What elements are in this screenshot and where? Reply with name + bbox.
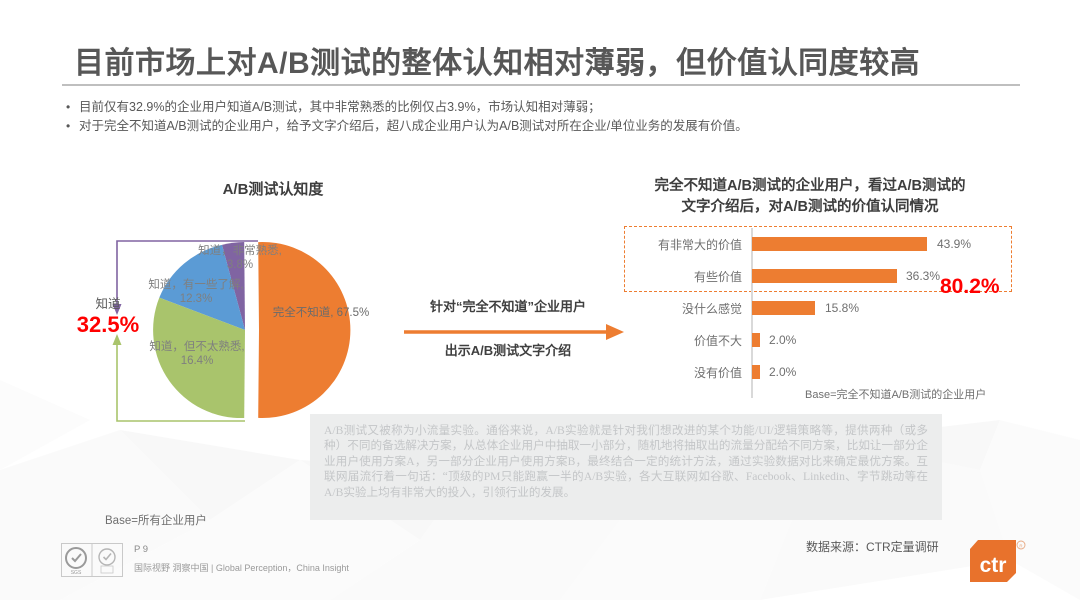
bar-base-note: Base=完全不知道A/B测试的企业用户 — [805, 386, 986, 402]
page-number: P 9 — [134, 544, 148, 555]
svg-text:SGS: SGS — [71, 570, 82, 576]
bullet-item: • 目前仅有32.9%的企业用户知道A/B测试，其中非常熟悉的比例仅占3.9%，… — [66, 98, 1026, 117]
bar-track: 43.9% — [752, 228, 1030, 260]
pie-label-not-familiar: 知道，但不太熟悉, 16.4% — [137, 340, 257, 368]
bar-row: 没有价值 2.0% — [630, 356, 1030, 388]
page-title: 目前市场上对A/B测试的整体认知相对薄弱，但价值认同度较高 — [74, 38, 1014, 82]
title-divider — [62, 84, 1020, 86]
bar-row: 有非常大的价值 43.9% — [630, 228, 1030, 260]
bullet-item: • 对于完全不知道A/B测试的企业用户，给予文字介绍后，超八成企业用户认为A/B… — [66, 117, 1026, 136]
registered-mark: R — [1019, 543, 1022, 548]
highlight-total-value: 80.2% — [940, 275, 1030, 299]
bar-category-label: 没有价值 — [630, 356, 742, 388]
transition-arrow-caption-bottom: 出示A/B测试文字介绍 — [404, 340, 612, 359]
bullet-marker: • — [66, 117, 79, 136]
bar-fill — [752, 237, 927, 251]
bar-chart: 有非常大的价值 43.9% 有些价值 36.3% 没什么感觉 15.8% 价值不… — [630, 228, 1030, 398]
certification-badge-icon: SGS — [61, 543, 123, 577]
pie-base-note: Base=所有企业用户 — [105, 512, 207, 528]
data-source-note: 数据来源：CTR定量调研 — [806, 538, 939, 555]
bullet-list: • 目前仅有32.9%的企业用户知道A/B测试，其中非常熟悉的比例仅占3.9%，… — [66, 98, 1026, 136]
bar-fill — [752, 365, 760, 379]
bar-category-label: 有些价值 — [630, 260, 742, 292]
bar-category-label: 有非常大的价值 — [630, 228, 742, 260]
know-total-annotation: 知道 32.5% — [55, 296, 161, 338]
bar-chart-title-line2: 文字介绍后，对A/B测试的价值认同情况 — [592, 197, 1028, 218]
bullet-text: 目前仅有32.9%的企业用户知道A/B测试，其中非常熟悉的比例仅占3.9%，市场… — [79, 98, 1026, 117]
pie-label-complete-unaware: 完全不知道, 67.5% — [266, 306, 376, 320]
bar-value-label: 36.3% — [906, 260, 940, 292]
bar-value-label: 2.0% — [769, 356, 796, 388]
know-total-value: 32.5% — [55, 312, 161, 338]
bar-category-label: 价值不大 — [630, 324, 742, 356]
ctr-logo-text: ctr — [980, 554, 1007, 577]
pie-label-very-familiar: 知道，非常熟悉, 3.8% — [192, 244, 288, 272]
bar-track: 2.0% — [752, 324, 1030, 356]
bar-row: 价值不大 2.0% — [630, 324, 1030, 356]
bar-track: 2.0% — [752, 356, 1030, 388]
bar-chart-title-line1: 完全不知道A/B测试的企业用户，看过A/B测试的 — [592, 176, 1028, 197]
ctr-logo: ctr R — [968, 540, 1026, 588]
transition-arrow-group: 针对“完全不知道”企业用户 出示A/B测试文字介绍 — [404, 296, 630, 366]
bar-value-label: 43.9% — [937, 228, 971, 260]
bar-fill — [752, 333, 760, 347]
bullet-text: 对于完全不知道A/B测试的企业用户，给予文字介绍后，超八成企业用户认为A/B测试… — [79, 117, 1026, 136]
bullet-marker: • — [66, 98, 79, 117]
footer-tagline: 国际视野 洞察中国 | Global Perception，China Insi… — [134, 561, 349, 574]
bar-category-label: 没什么感觉 — [630, 292, 742, 324]
explanatory-note: A/B测试又被称为小流量实验。通俗来说，A/B实验就是针对我们想改进的某个功能/… — [310, 414, 942, 520]
know-total-label: 知道 — [55, 296, 161, 312]
bar-value-label: 15.8% — [825, 292, 859, 324]
pie-chart-title: A/B测试认知度 — [148, 178, 398, 199]
bar-value-label: 2.0% — [769, 324, 796, 356]
bar-chart-title: 完全不知道A/B测试的企业用户，看过A/B测试的 文字介绍后，对A/B测试的价值… — [592, 176, 1028, 218]
bar-fill — [752, 269, 897, 283]
bar-fill — [752, 301, 815, 315]
